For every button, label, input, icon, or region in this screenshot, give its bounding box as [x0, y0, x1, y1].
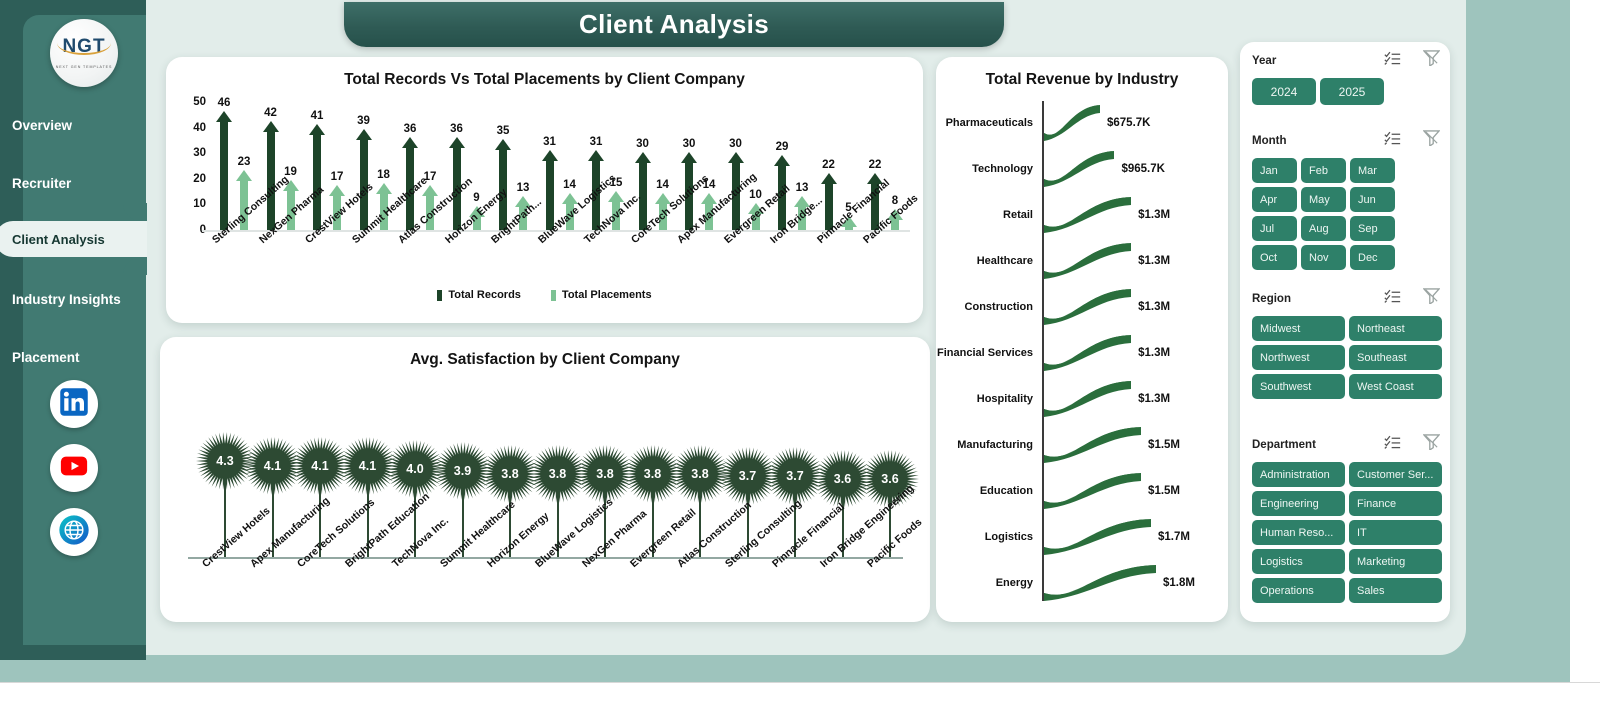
bar-value-label: 22 — [869, 159, 882, 171]
bar-value-label: 39 — [357, 115, 370, 127]
multi-select-icon[interactable] — [1384, 435, 1401, 455]
filter-section-department: DepartmentAdministrationCustomer Ser...E… — [1252, 434, 1442, 603]
bar-value-label: 18 — [377, 169, 390, 181]
clear-filter-icon[interactable] — [1423, 434, 1440, 455]
filter-chip-human-reso[interactable]: Human Reso... — [1252, 520, 1345, 545]
filter-chip-midwest[interactable]: Midwest — [1252, 316, 1345, 341]
clear-filter-icon[interactable] — [1423, 288, 1440, 309]
multi-select-icon[interactable] — [1384, 51, 1401, 71]
bar-arrow-head-icon — [681, 152, 697, 163]
revenue-row[interactable]: Financial Services$1.3M — [936, 331, 1228, 375]
revenue-value-label: $1.3M — [1138, 301, 1170, 313]
bar-total-records[interactable]: 35 — [495, 140, 511, 230]
sidebar-item-label: Recruiter — [12, 176, 71, 191]
revenue-category-label: Construction — [936, 301, 1038, 313]
revenue-ribbon-shape — [1044, 287, 1131, 327]
revenue-category-label: Manufacturing — [936, 439, 1038, 451]
bar-arrow-head-icon — [356, 129, 372, 140]
bar-value-label: 30 — [729, 138, 742, 150]
filter-options: AdministrationCustomer Ser...Engineering… — [1252, 462, 1442, 603]
filter-header-icons — [1384, 288, 1440, 309]
revenue-category-label: Energy — [936, 577, 1038, 589]
bar-value-label: 42 — [264, 107, 277, 119]
revenue-ribbon-shape — [1044, 195, 1131, 235]
multi-select-icon[interactable] — [1384, 289, 1401, 309]
bar-shaft — [546, 161, 554, 230]
filter-chip-southwest[interactable]: Southwest — [1252, 374, 1345, 399]
sidebar-item-label: Industry Insights — [12, 292, 121, 307]
revenue-category-label: Retail — [936, 209, 1038, 221]
filter-header-icons — [1384, 130, 1440, 151]
filter-chip-aug[interactable]: Aug — [1301, 216, 1346, 241]
bar-value-label: 46 — [218, 97, 231, 109]
filter-chip-engineering[interactable]: Engineering — [1252, 491, 1345, 516]
bar-arrow-head-icon — [236, 170, 252, 181]
bar-value-label: 30 — [636, 138, 649, 150]
filter-chip-jan[interactable]: Jan — [1252, 158, 1297, 183]
revenue-value-label: $1.3M — [1138, 393, 1170, 405]
youtube-icon — [59, 451, 89, 486]
bar-value-label: 30 — [683, 138, 696, 150]
filter-chip-logistics[interactable]: Logistics — [1252, 549, 1345, 574]
revenue-ribbon-shape — [1044, 149, 1114, 189]
sidebar: NGT NEXT GEN TEMPLATES OverviewRecruiter… — [0, 0, 146, 660]
revenue-category-label: Technology — [936, 163, 1038, 175]
filter-chip-2024[interactable]: 2024 — [1252, 78, 1316, 105]
revenue-row[interactable]: Pharmaceuticals$675.7K — [936, 101, 1228, 145]
bar-value-label: 36 — [450, 123, 463, 135]
filter-header-icons — [1384, 434, 1440, 455]
revenue-row[interactable]: Healthcare$1.3M — [936, 239, 1228, 283]
dashboard-root: NGT NEXT GEN TEMPLATES OverviewRecruiter… — [0, 0, 1600, 707]
revenue-value-label: $1.3M — [1138, 209, 1170, 221]
bar-total-records[interactable]: 41 — [309, 125, 325, 230]
filter-chip-administration[interactable]: Administration — [1252, 462, 1345, 487]
revenue-value-label: $1.8M — [1163, 577, 1195, 589]
revenue-category-label: Healthcare — [936, 255, 1038, 267]
bar-value-label: 23 — [238, 156, 251, 168]
bar-value-label: 14 — [563, 179, 576, 191]
legend-swatch — [437, 290, 442, 301]
revenue-ribbon-shape — [1044, 333, 1131, 373]
chart-card-revenue-by-industry: Total Revenue by Industry Pharmaceutical… — [936, 57, 1228, 622]
page-right-margin — [1570, 0, 1600, 682]
bar-arrow-head-icon — [449, 137, 465, 148]
revenue-row[interactable]: Retail$1.3M — [936, 193, 1228, 237]
bar-arrow-head-icon — [216, 111, 232, 122]
satisfaction-x-labels: CrestView HotelsApex ManufacturingCoreTe… — [188, 561, 903, 621]
revenue-row[interactable]: Manufacturing$1.5M — [936, 423, 1228, 467]
filter-section-year: Year20242025 — [1252, 50, 1442, 105]
revenue-row[interactable]: Construction$1.3M — [936, 285, 1228, 329]
revenue-category-label: Education — [936, 485, 1038, 497]
legend-label: Total Records — [448, 289, 521, 301]
filter-chip-sales[interactable]: Sales — [1349, 578, 1442, 603]
bar-arrow-head-icon — [309, 124, 325, 135]
revenue-ribbon-shape — [1044, 471, 1141, 511]
filter-section-month: MonthJanFebMarAprMayJunJulAugSepOctNovDe… — [1252, 130, 1442, 270]
filter-options: 20242025 — [1252, 78, 1442, 105]
youtube-link[interactable] — [50, 444, 98, 492]
filter-options: MidwestNortheastNorthwestSoutheastSouthw… — [1252, 316, 1442, 399]
revenue-category-label: Pharmaceuticals — [936, 117, 1038, 129]
filter-section-title: Month — [1252, 135, 1286, 147]
globe-icon — [58, 514, 90, 551]
bar-arrow-head-icon — [588, 150, 604, 161]
revenue-value-label: $965.7K — [1121, 163, 1164, 175]
bar-value-label: 41 — [311, 110, 324, 122]
filter-section-header: Region — [1252, 288, 1442, 310]
revenue-category-label: Hospitality — [936, 393, 1038, 405]
bar-arrow-head-icon — [608, 191, 624, 202]
filter-chip-dec[interactable]: Dec — [1350, 245, 1395, 270]
bar-shaft — [220, 122, 228, 230]
dashboard-canvas: NGT NEXT GEN TEMPLATES OverviewRecruiter… — [0, 0, 1570, 682]
filter-chip-customer-ser[interactable]: Customer Ser... — [1349, 462, 1442, 487]
bar-arrow-head-icon — [635, 152, 651, 163]
filter-header-icons — [1384, 50, 1440, 71]
sidebar-item-overview[interactable]: Overview — [0, 110, 123, 140]
legend-item[interactable]: Total Placements — [551, 289, 652, 301]
filter-chip-2025[interactable]: 2025 — [1320, 78, 1384, 105]
bar-total-records[interactable]: 30 — [635, 153, 651, 230]
filter-chip-northeast[interactable]: Northeast — [1349, 316, 1442, 341]
filter-section-title: Department — [1252, 439, 1316, 451]
filter-chip-jun[interactable]: Jun — [1350, 187, 1395, 212]
sidebar-active-notch — [123, 221, 147, 257]
revenue-row[interactable]: Technology$965.7K — [936, 147, 1228, 191]
bar-value-label: 36 — [404, 123, 417, 135]
bar-value-label: 17 — [331, 171, 344, 183]
revenue-row[interactable]: Education$1.5M — [936, 469, 1228, 513]
bar-total-records[interactable]: 39 — [356, 130, 372, 230]
bar-arrow-head-icon — [263, 121, 279, 132]
bar-value-label: 13 — [796, 182, 809, 194]
filter-chip-oct[interactable]: Oct — [1252, 245, 1297, 270]
clear-filter-icon[interactable] — [1423, 130, 1440, 151]
bar-value-label: 10 — [749, 189, 762, 201]
bar-arrow-head-icon — [495, 139, 511, 150]
bar-arrow-head-icon — [402, 137, 418, 148]
y-tick-label: 50 — [193, 96, 206, 108]
revenue-row[interactable]: Hospitality$1.3M — [936, 377, 1228, 421]
sidebar-item-label: Client Analysis — [12, 232, 105, 247]
filter-chip-northwest[interactable]: Northwest — [1252, 345, 1345, 370]
sidebar-item-client-analysis[interactable]: Client Analysis — [0, 221, 123, 257]
filter-chip-finance[interactable]: Finance — [1349, 491, 1442, 516]
filter-chip-nov[interactable]: Nov — [1301, 245, 1346, 270]
page-bottom-margin — [0, 682, 1600, 707]
logo-tagline: NEXT GEN TEMPLATES — [56, 65, 113, 69]
revenue-value-label: $1.3M — [1138, 347, 1170, 359]
revenue-ribbon-shape — [1044, 103, 1100, 143]
y-tick-label: 40 — [193, 122, 206, 134]
filter-chip-operations[interactable]: Operations — [1252, 578, 1345, 603]
revenue-value-label: $1.5M — [1148, 439, 1180, 451]
revenue-value-label: $1.3M — [1138, 255, 1170, 267]
bar-chart-y-axis: 50403020100 — [178, 102, 206, 232]
revenue-ribbon-shape — [1044, 425, 1141, 465]
sidebar-item-recruiter[interactable]: Recruiter — [0, 168, 123, 198]
bar-arrow-head-icon — [329, 185, 345, 196]
app-logo: NGT NEXT GEN TEMPLATES — [50, 19, 118, 87]
filter-panel: Year20242025MonthJanFebMarAprMayJunJulAu… — [1240, 42, 1450, 622]
bar-total-records[interactable]: 46 — [216, 112, 232, 230]
y-tick-label: 20 — [193, 173, 206, 185]
bar-total-records[interactable]: 42 — [263, 122, 279, 230]
multi-select-icon[interactable] — [1384, 131, 1401, 151]
legend-item[interactable]: Total Records — [437, 289, 521, 301]
bar-value-label: 35 — [497, 125, 510, 137]
bar-value-label: 31 — [590, 136, 603, 148]
bar-value-label: 9 — [473, 192, 479, 204]
bar-value-label: 13 — [517, 182, 530, 194]
filter-chip-marketing[interactable]: Marketing — [1349, 549, 1442, 574]
filter-chip-feb[interactable]: Feb — [1301, 158, 1346, 183]
filter-chip-it[interactable]: IT — [1349, 520, 1442, 545]
revenue-value-label: $1.5M — [1148, 485, 1180, 497]
y-tick-label: 10 — [193, 198, 206, 210]
revenue-row[interactable]: Logistics$1.7M — [936, 515, 1228, 559]
filter-chip-may[interactable]: May — [1301, 187, 1346, 212]
filter-chip-apr[interactable]: Apr — [1252, 187, 1297, 212]
revenue-category-label: Logistics — [936, 531, 1038, 543]
sidebar-item-label: Placement — [12, 350, 80, 365]
globe-link[interactable] — [50, 508, 98, 556]
filter-section-header: Department — [1252, 434, 1442, 456]
bar-shaft — [313, 135, 321, 230]
revenue-ribbon-shape — [1044, 563, 1156, 603]
bar-arrow-head-icon — [728, 152, 744, 163]
bar-value-label: 14 — [656, 179, 669, 191]
filter-chip-jul[interactable]: Jul — [1252, 216, 1297, 241]
revenue-value-label: $1.7M — [1158, 531, 1190, 543]
sidebar-item-placement[interactable]: Placement — [0, 342, 123, 372]
filter-section-title: Region — [1252, 293, 1291, 305]
revenue-row[interactable]: Energy$1.8M — [936, 561, 1228, 605]
bar-arrow-head-icon — [774, 155, 790, 166]
bar-arrow-head-icon — [821, 173, 837, 184]
filter-chip-mar[interactable]: Mar — [1350, 158, 1395, 183]
legend-label: Total Placements — [562, 289, 652, 301]
chart-title: Total Records Vs Total Placements by Cli… — [166, 71, 923, 89]
chart-card-records-vs-placements: Total Records Vs Total Placements by Cli… — [166, 57, 923, 323]
legend-swatch — [551, 290, 556, 301]
chart-title: Avg. Satisfaction by Client Company — [160, 351, 930, 369]
bar-value-label: 31 — [543, 136, 556, 148]
bar-total-records[interactable]: 31 — [542, 151, 558, 230]
bar-arrow-head-icon — [376, 183, 392, 194]
chart-title: Total Revenue by Industry — [936, 71, 1228, 89]
filter-section-title: Year — [1252, 55, 1276, 67]
bar-chart-legend: Total RecordsTotal Placements — [166, 289, 923, 301]
filter-options: JanFebMarAprMayJunJulAugSepOctNovDec — [1252, 158, 1442, 270]
revenue-category-label: Financial Services — [936, 347, 1038, 359]
revenue-ribbon-shape — [1044, 241, 1131, 281]
filter-section-region: RegionMidwestNortheastNorthwestSoutheast… — [1252, 288, 1442, 399]
revenue-ribbon-shape — [1044, 517, 1151, 557]
page-title: Client Analysis — [344, 2, 1004, 47]
y-tick-label: 30 — [193, 147, 206, 159]
filter-section-header: Year — [1252, 50, 1442, 72]
revenue-value-label: $675.7K — [1107, 117, 1150, 129]
linkedin-link[interactable] — [50, 380, 98, 428]
filter-chip-southeast[interactable]: Southeast — [1349, 345, 1442, 370]
linkedin-icon — [59, 387, 89, 422]
bar-value-label: 29 — [776, 141, 789, 153]
filter-chip-sep[interactable]: Sep — [1350, 216, 1395, 241]
chart-card-avg-satisfaction: Avg. Satisfaction by Client Company 4.34… — [160, 337, 930, 622]
revenue-ribbon-shape — [1044, 379, 1131, 419]
sidebar-item-label: Overview — [12, 118, 72, 133]
filter-section-header: Month — [1252, 130, 1442, 152]
bar-arrow-head-icon — [542, 150, 558, 161]
sidebar-item-industry-insights[interactable]: Industry Insights — [0, 284, 123, 314]
page-title-text: Client Analysis — [579, 9, 769, 40]
filter-chip-west-coast[interactable]: West Coast — [1349, 374, 1442, 399]
clear-filter-icon[interactable] — [1423, 50, 1440, 71]
bar-shaft — [845, 227, 853, 230]
bar-value-label: 22 — [822, 159, 835, 171]
